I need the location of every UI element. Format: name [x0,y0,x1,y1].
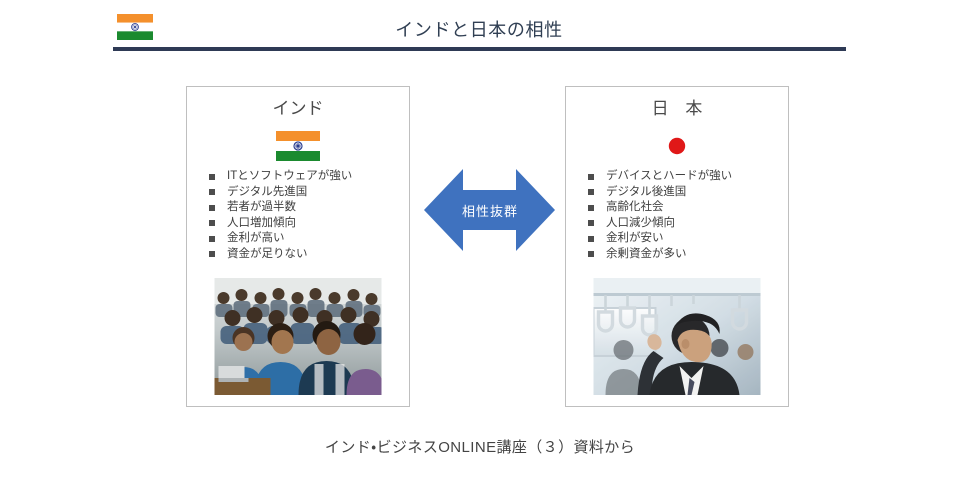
list-item: 人口減少傾向 [588,216,780,232]
list-item-label: 金利が安い [606,232,664,244]
square-bullet-icon [209,251,215,257]
compatibility-arrow: 相性抜群 [424,161,555,259]
list-item-label: デジタル先進国 [227,186,307,198]
panel-india: インド ITとソフトウェアが強い [186,86,410,407]
page-title: インドと日本の相性 [113,17,845,43]
list-item: デジタル後進国 [588,185,780,201]
list-item: 若者が過半数 [209,200,401,216]
square-bullet-icon [588,189,594,195]
list-item-label: 資金が足りない [227,248,308,260]
list-item: デバイスとハードが強い [588,169,780,185]
slide-canvas: インドと日本の相性 インド ITと [0,0,960,500]
india-flag-icon [276,131,320,161]
list-item: 余剰資金が多い [588,247,780,263]
list-item: 人口増加傾向 [209,216,401,232]
square-bullet-icon [588,220,594,226]
list-item-label: 若者が過半数 [227,201,296,213]
square-bullet-icon [209,174,215,180]
panel-india-heading: インド [187,97,409,121]
list-item-label: 余剰資金が多い [606,248,687,260]
india-classroom-photo [215,278,382,395]
square-bullet-icon [588,236,594,242]
list-item-label: デバイスとハードが強い [606,170,732,182]
list-item: 金利が高い [209,231,401,247]
list-item-label: 金利が高い [227,232,285,244]
compatibility-arrow-label: 相性抜群 [424,161,555,259]
source-caption: インド・ビジネスONLINE講座（３）資料から [0,437,960,459]
list-item-label: 人口減少傾向 [606,217,675,229]
header-divider [113,47,846,51]
panel-japan-bullet-list: デバイスとハードが強い デジタル後進国 高齢化社会 人口減少傾向 金利が安い 余… [588,169,780,263]
list-item-label: ITとソフトウェアが強い [227,170,352,182]
list-item: 資金が足りない [209,247,401,263]
panel-india-bullet-list: ITとソフトウェアが強い デジタル先進国 若者が過半数 人口増加傾向 金利が高い… [209,169,401,263]
japan-commuter-train-photo [594,278,761,395]
square-bullet-icon [209,189,215,195]
japan-flag-icon [655,131,699,161]
panel-japan: 日 本 デバイスとハードが強い デジタル後進国 高齢化社会 人口減少傾向 [565,86,789,407]
square-bullet-icon [209,220,215,226]
list-item-label: 人口増加傾向 [227,217,296,229]
list-item-label: 高齢化社会 [606,201,664,213]
square-bullet-icon [209,236,215,242]
panel-japan-heading: 日 本 [566,97,788,121]
list-item-label: デジタル後進国 [606,186,686,198]
square-bullet-icon [209,205,215,211]
list-item: 高齢化社会 [588,200,780,216]
slide-header: インドと日本の相性 [0,0,960,58]
square-bullet-icon [588,174,594,180]
square-bullet-icon [588,205,594,211]
square-bullet-icon [588,251,594,257]
list-item: ITとソフトウェアが強い [209,169,401,185]
list-item: デジタル先進国 [209,185,401,201]
list-item: 金利が安い [588,231,780,247]
